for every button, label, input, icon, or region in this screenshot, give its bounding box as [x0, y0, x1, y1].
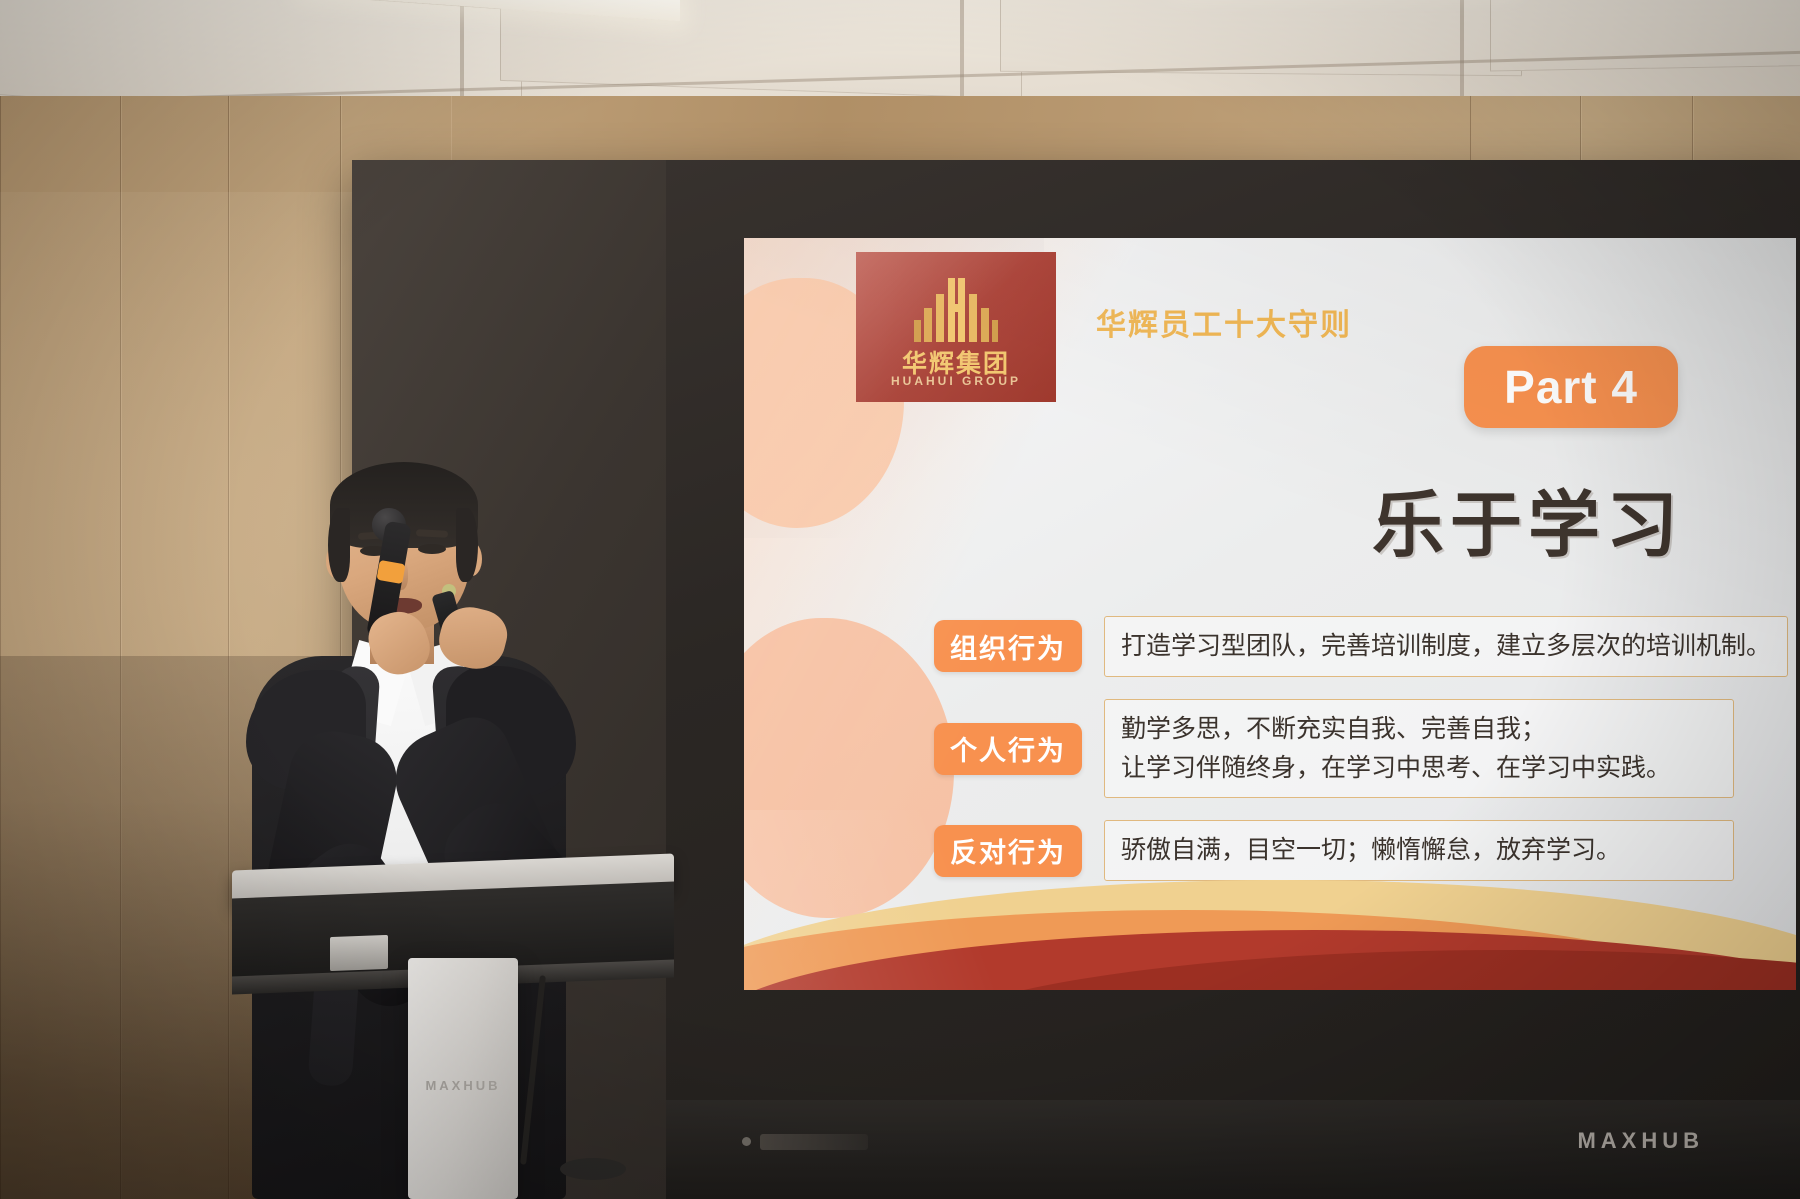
- ceiling-seam: [1460, 0, 1464, 100]
- content-row: 组织行为 打造学习型团队，完善培训制度，建立多层次的培训机制。: [934, 616, 1734, 677]
- presenter-eye-right: [418, 544, 446, 554]
- display-brand-logo: MAXHUB: [1577, 1128, 1704, 1154]
- podium-control-box: [330, 935, 388, 971]
- row-line: 勤学多思，不断充实自我、完善自我；: [1121, 710, 1717, 749]
- row-body-organizational: 打造学习型团队，完善培训制度，建立多层次的培训机制。: [1104, 616, 1788, 677]
- ir-sensor-strip: [760, 1134, 868, 1150]
- part-badge: Part 4: [1464, 346, 1678, 428]
- content-row: 个人行为 勤学多思，不断充实自我、完善自我； 让学习伴随终身，在学习中思考、在学…: [934, 699, 1734, 799]
- logo-english-name: HUAHUI GROUP: [856, 374, 1056, 388]
- row-line: 让学习伴随终身，在学习中思考、在学习中实践。: [1121, 749, 1717, 788]
- building-tower-icon: [914, 278, 998, 347]
- wave-highlight: [744, 810, 1104, 990]
- presentation-slide: 华辉集团 HUAHUI GROUP 华辉员工十大守则 Part 4 乐于学习 组…: [744, 238, 1796, 990]
- row-tag-organizational: 组织行为: [934, 620, 1082, 672]
- podium-brand-label: MAXHUB: [408, 1078, 518, 1093]
- display-screen[interactable]: 华辉集团 HUAHUI GROUP 华辉员工十大守则 Part 4 乐于学习 组…: [744, 238, 1796, 990]
- row-tag-personal: 个人行为: [934, 723, 1082, 775]
- microphone-accent-ring: [376, 560, 405, 584]
- presenter-hair-side: [328, 508, 350, 582]
- row-body-personal: 勤学多思，不断充实自我、完善自我； 让学习伴随终身，在学习中思考、在学习中实践。: [1104, 699, 1734, 799]
- presenter-hair-side: [456, 508, 478, 582]
- cable-floor-coil: [560, 1158, 626, 1180]
- ceiling-seam: [960, 0, 964, 110]
- slide-kicker-text: 华辉员工十大守则: [1096, 300, 1352, 344]
- ir-receiver-icon: [742, 1137, 751, 1146]
- presentation-photo-scene: 华辉集团 HUAHUI GROUP 华辉员工十大守则 Part 4 乐于学习 组…: [0, 0, 1800, 1199]
- ceiling-panel: [1000, 0, 1522, 76]
- row-line: 打造学习型团队，完善培训制度，建立多层次的培训机制。: [1121, 627, 1771, 666]
- slide-footer-waves: [744, 810, 1796, 990]
- company-logo: 华辉集团 HUAHUI GROUP: [856, 252, 1056, 402]
- slide-title: 乐于学习: [1372, 466, 1684, 571]
